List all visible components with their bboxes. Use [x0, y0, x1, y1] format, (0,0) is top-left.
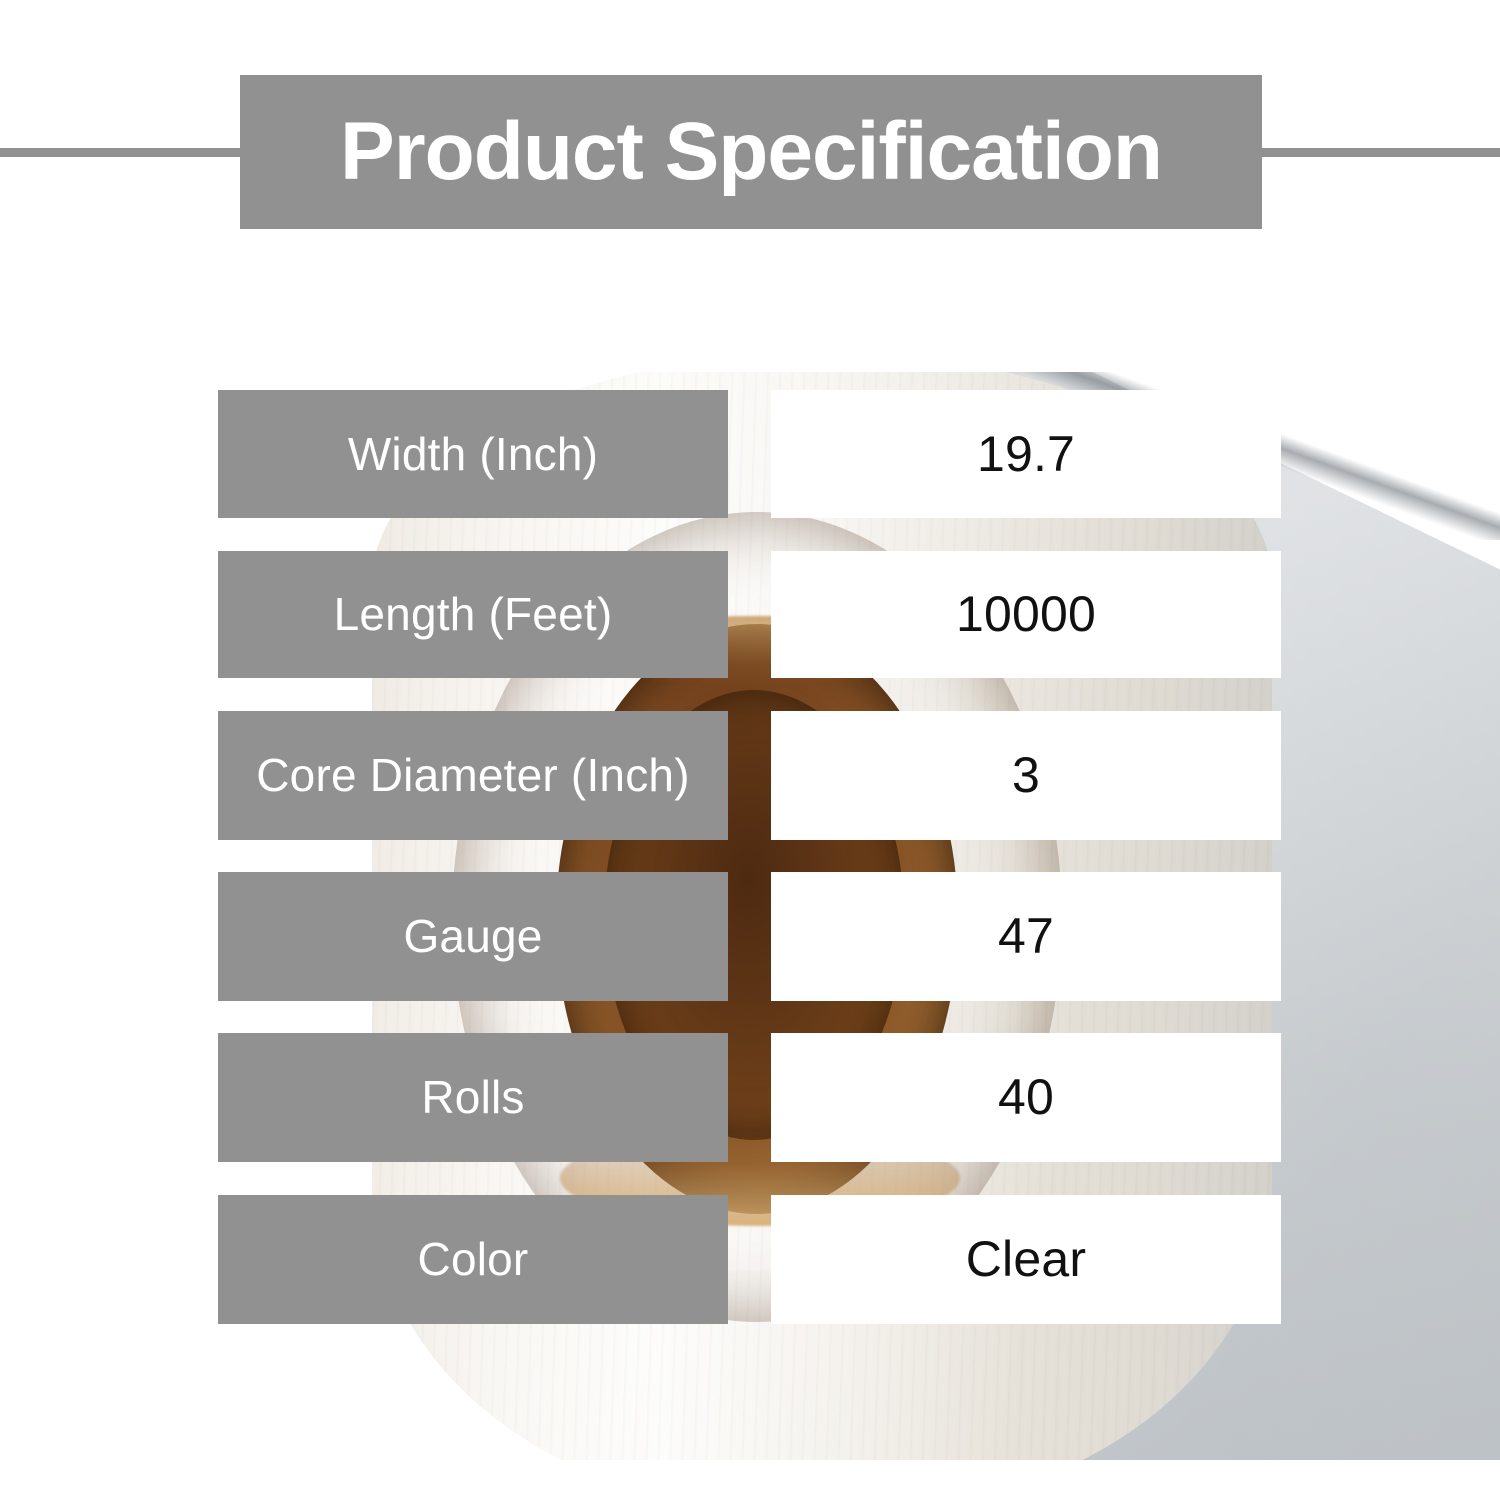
spec-label-width: Width (Inch): [218, 390, 728, 518]
spec-label-color: Color: [218, 1195, 728, 1324]
spec-label-rolls: Rolls: [218, 1033, 728, 1162]
spec-label-length: Length (Feet): [218, 551, 728, 678]
spec-value-core-diameter: 3: [771, 711, 1281, 840]
spec-value-color: Clear: [771, 1195, 1281, 1324]
spec-value-length: 10000: [771, 551, 1281, 678]
specification-table: Width (Inch) 19.7 Length (Feet) 10000 Co…: [0, 0, 1500, 1500]
product-specification-page: Product Specification Width (Inch) 19.7 …: [0, 0, 1500, 1500]
spec-value-rolls: 40: [771, 1033, 1281, 1162]
spec-value-width: 19.7: [771, 390, 1281, 518]
spec-label-core-diameter: Core Diameter (Inch): [218, 711, 728, 840]
spec-value-gauge: 47: [771, 872, 1281, 1001]
spec-label-gauge: Gauge: [218, 872, 728, 1001]
